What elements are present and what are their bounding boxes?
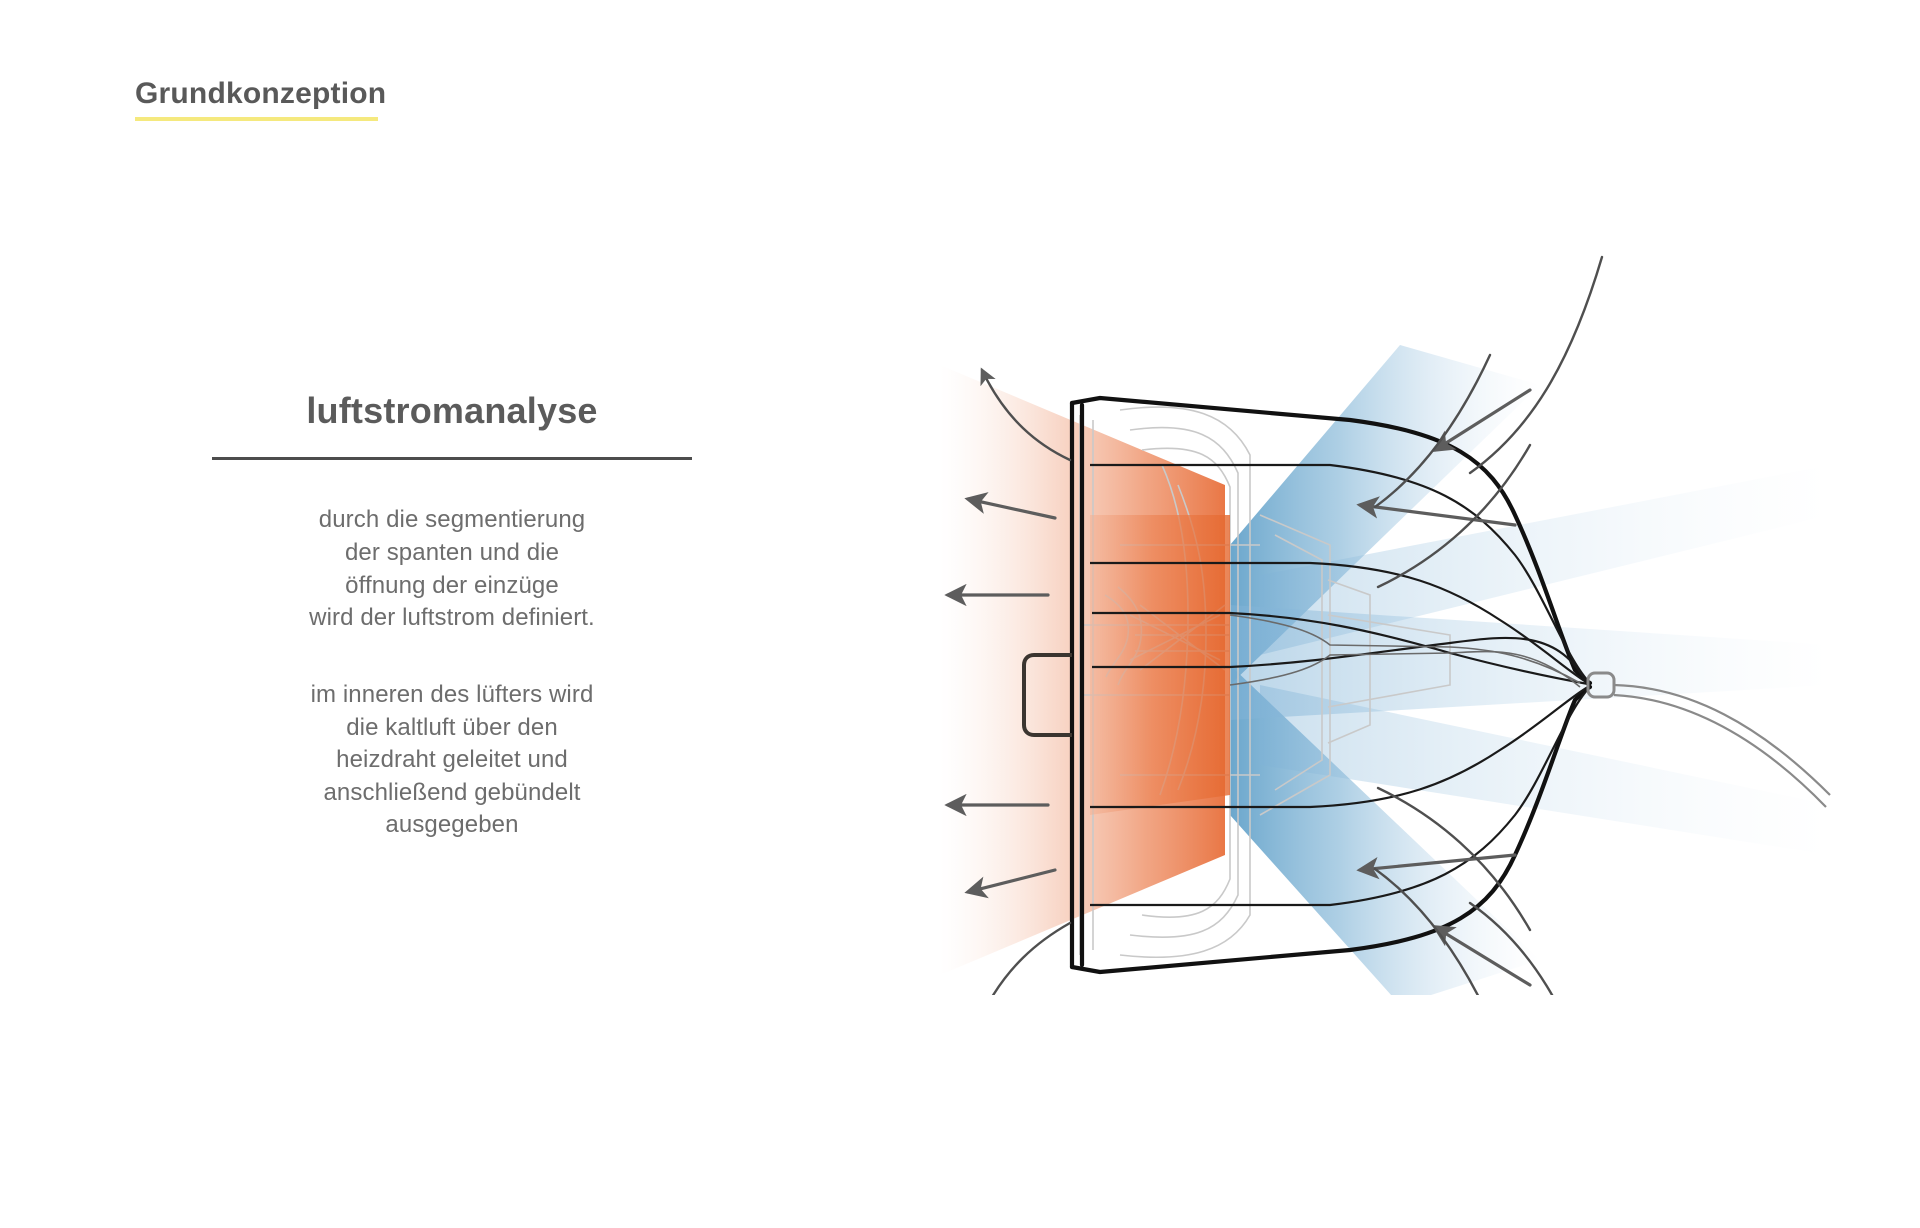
slide-canvas: Grundkonzeption luftstromanalyse durch d… (0, 0, 1920, 1228)
paragraph-line: öffnung der einzüge (212, 570, 692, 603)
section-divider (212, 457, 692, 460)
cold-air-plume (1230, 345, 1830, 995)
paragraph-line: heizdraht geleitet und (212, 744, 692, 777)
paragraph-line: ausgegeben (212, 809, 692, 842)
hot-core-overlay (1090, 515, 1230, 815)
text-column: luftstromanalyse durch die segmentierung… (212, 390, 692, 842)
paragraph-line: die kaltluft über den (212, 712, 692, 745)
page-title: Grundkonzeption (135, 78, 386, 110)
title-underline-rule (135, 117, 378, 121)
paragraph-airflow-definition: durch die segmentierung der spanten und … (212, 504, 692, 635)
airflow-diagram (930, 215, 1850, 995)
paragraph-line: der spanten und die (212, 537, 692, 570)
section-heading: luftstromanalyse (212, 390, 692, 431)
paragraph-line: durch die segmentierung (212, 504, 692, 537)
paragraph-line: im inneren des lüfters wird (212, 679, 692, 712)
paragraph-line: wird der luftstrom definiert. (212, 602, 692, 635)
paragraph-line: anschließend gebündelt (212, 777, 692, 810)
paragraph-internal-heating: im inneren des lüfters wird die kaltluft… (212, 679, 692, 842)
slide-header: Grundkonzeption (135, 78, 386, 121)
